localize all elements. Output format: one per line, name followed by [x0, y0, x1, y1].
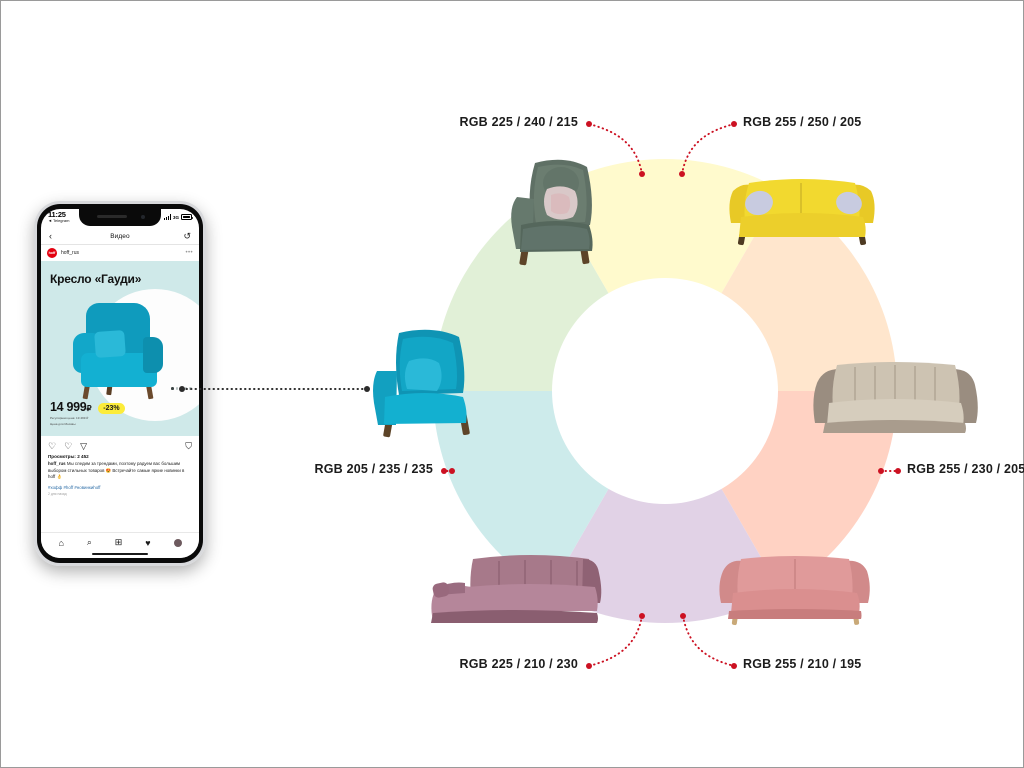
back-triangle-icon: ◄ — [48, 219, 52, 223]
post-timestamp: 2 дня назад — [41, 490, 199, 496]
caption-text: Мы следим за трендами, поэтому радуем ва… — [48, 461, 184, 479]
post-media[interactable]: Кресло «Гауди» 14 999₽ — [41, 261, 199, 436]
leader-marker-yellow — [679, 171, 685, 177]
status-app-name: Telegram — [53, 219, 69, 223]
media-title: Кресло «Гауди» — [50, 272, 141, 286]
profile-avatar-icon[interactable] — [174, 539, 182, 547]
chevron-left-icon[interactable]: ‹ — [49, 231, 63, 241]
price-note-1: Регулярная цена: 19 499 ₽ — [50, 416, 91, 420]
caption-username[interactable]: hoff_rus — [48, 461, 66, 466]
price-note-2: Цена для Москвы — [50, 422, 91, 426]
heart-filled-icon[interactable]: ♥ — [145, 538, 150, 548]
refresh-icon[interactable]: ↺ — [177, 231, 191, 242]
leader-anchor-green — [586, 121, 592, 127]
post-header: hoff hoff_rus ••• — [41, 245, 199, 261]
product-sofa-yellow — [723, 169, 881, 247]
price-value: 14 999₽ — [50, 401, 91, 414]
price-block: 14 999₽ Регулярная цена: 19 499 ₽ Цена д… — [50, 401, 125, 426]
send-icon[interactable]: ▽ — [80, 442, 87, 451]
post-username[interactable]: hoff_rus — [61, 250, 181, 256]
front-camera — [141, 215, 145, 219]
rgb-label-yellow: RGB 255 / 250 / 205 — [743, 115, 861, 129]
rgb-label-salmon: RGB 255 / 210 / 195 — [743, 657, 861, 671]
leader-anchor-yellow — [731, 121, 737, 127]
leader-marker-lilac — [639, 613, 645, 619]
status-left: 11:25 ◄ Telegram — [48, 211, 69, 223]
product-sofa-pink — [715, 547, 875, 627]
heart-icon[interactable]: ♡ — [48, 442, 56, 451]
battery-icon — [181, 214, 192, 220]
network-type-label: 3G — [173, 215, 179, 220]
post-actions: ♡ ♡ ▽ ⛉ — [41, 436, 199, 454]
product-armchair-green — [499, 153, 611, 268]
leader-marker-cyan — [449, 468, 455, 474]
phone-notch — [79, 209, 161, 226]
search-icon[interactable]: ⌕ — [87, 537, 92, 548]
leader-marker-green — [639, 171, 645, 177]
avatar[interactable]: hoff — [47, 248, 57, 258]
phone-mockup: 11:25 ◄ Telegram 3G — [34, 201, 206, 566]
product-sofa-mauve — [429, 541, 605, 629]
home-icon[interactable]: ⌂ — [58, 538, 63, 548]
rgb-label-lilac: RGB 225 / 210 / 230 — [460, 657, 578, 671]
phone-body: 11:25 ◄ Telegram 3G — [34, 201, 206, 566]
add-post-icon[interactable]: ⊞ — [115, 537, 123, 548]
rgb-label-green: RGB 225 / 240 / 215 — [460, 115, 578, 129]
status-right: 3G — [164, 211, 192, 220]
signal-bars-icon — [164, 214, 171, 220]
leader-anchor-cyan — [441, 468, 447, 474]
bookmark-icon[interactable]: ⛉ — [185, 442, 192, 451]
status-app-label: ◄ Telegram — [48, 219, 69, 223]
product-armchair-teal — [369, 323, 487, 441]
more-dots-icon[interactable]: ••• — [185, 250, 193, 256]
donut-center-hole — [552, 278, 778, 504]
comment-icon[interactable]: ♡ — [64, 442, 72, 451]
app-nav-bar: ‹ Видео ↺ — [41, 228, 199, 245]
discount-badge: -23% — [98, 403, 124, 414]
post-caption: hoff_rus Мы следим за трендами, поэтому … — [41, 461, 199, 481]
post-hashtags[interactable]: #хофф #hoff #новинкиhoff — [41, 481, 199, 490]
leader-anchor-salmon — [731, 663, 737, 669]
phone-screen: 11:25 ◄ Telegram 3G — [41, 209, 199, 558]
leader-anchor-peach — [895, 468, 901, 474]
slide-canvas: 11:25 ◄ Telegram 3G — [0, 0, 1024, 768]
leader-marker-peach — [878, 468, 884, 474]
product-sofa-beige — [811, 353, 979, 441]
earpiece-speaker — [97, 215, 127, 218]
phone-bezel: 11:25 ◄ Telegram 3G — [37, 204, 203, 563]
connector-end-dot — [364, 386, 370, 392]
post-views: Просмотры: 2 452 — [41, 454, 199, 461]
price-group: 14 999₽ Регулярная цена: 19 499 ₽ Цена д… — [50, 401, 91, 426]
product-image-armchair — [73, 303, 165, 399]
app-nav-title: Видео — [63, 233, 177, 240]
leader-marker-salmon — [680, 613, 686, 619]
connector-start-dot — [179, 386, 185, 392]
leader-anchor-lilac — [586, 663, 592, 669]
rgb-label-cyan: RGB 205 / 235 / 235 — [315, 462, 433, 476]
rgb-label-peach: RGB 255 / 230 / 205 — [907, 462, 1024, 476]
